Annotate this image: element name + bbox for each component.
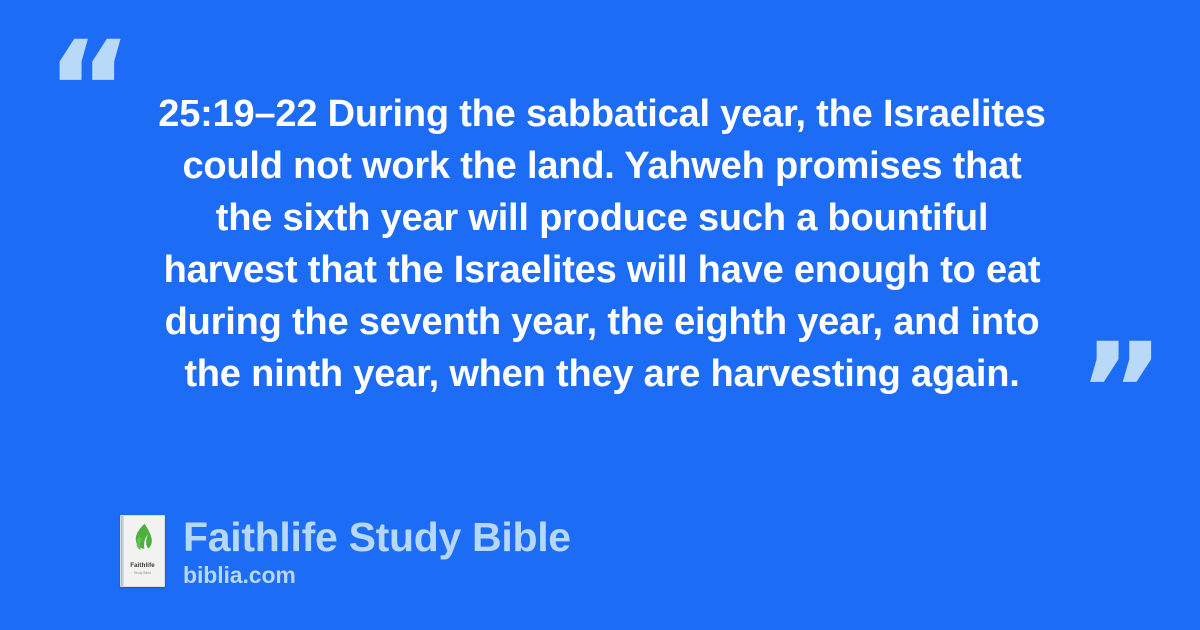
quote-line: during the seventh year, the eighth year…	[110, 296, 1094, 348]
brand-text-group: Faithlife Study Bible biblia.com	[183, 514, 571, 588]
quote-text-block: 25:19–22 During the sabbatical year, the…	[110, 88, 1094, 400]
green-flame-leaf-icon	[131, 523, 155, 553]
quote-line: the sixth year will produce such a bount…	[110, 192, 1094, 244]
brand-url[interactable]: biblia.com	[183, 562, 571, 588]
quote-line: could not work the land. Yahweh promises…	[110, 140, 1094, 192]
book-cover-thumbnail: Faithlife Study Bible	[120, 515, 165, 587]
branding-footer: Faithlife Study Bible Faithlife Study Bi…	[120, 514, 571, 588]
quote-line: 25:19–22 During the sabbatical year, the…	[110, 88, 1094, 140]
book-cover-subtitle: Study Bible	[134, 572, 151, 575]
quote-card: “ ” 25:19–22 During the sabbatical year,…	[0, 0, 1200, 630]
brand-name: Faithlife Study Bible	[183, 514, 571, 560]
quote-line: harvest that the Israelites will have en…	[110, 244, 1094, 296]
quote-line: the ninth year, when they are harvesting…	[110, 348, 1094, 400]
book-cover-title: Faithlife	[130, 563, 155, 569]
